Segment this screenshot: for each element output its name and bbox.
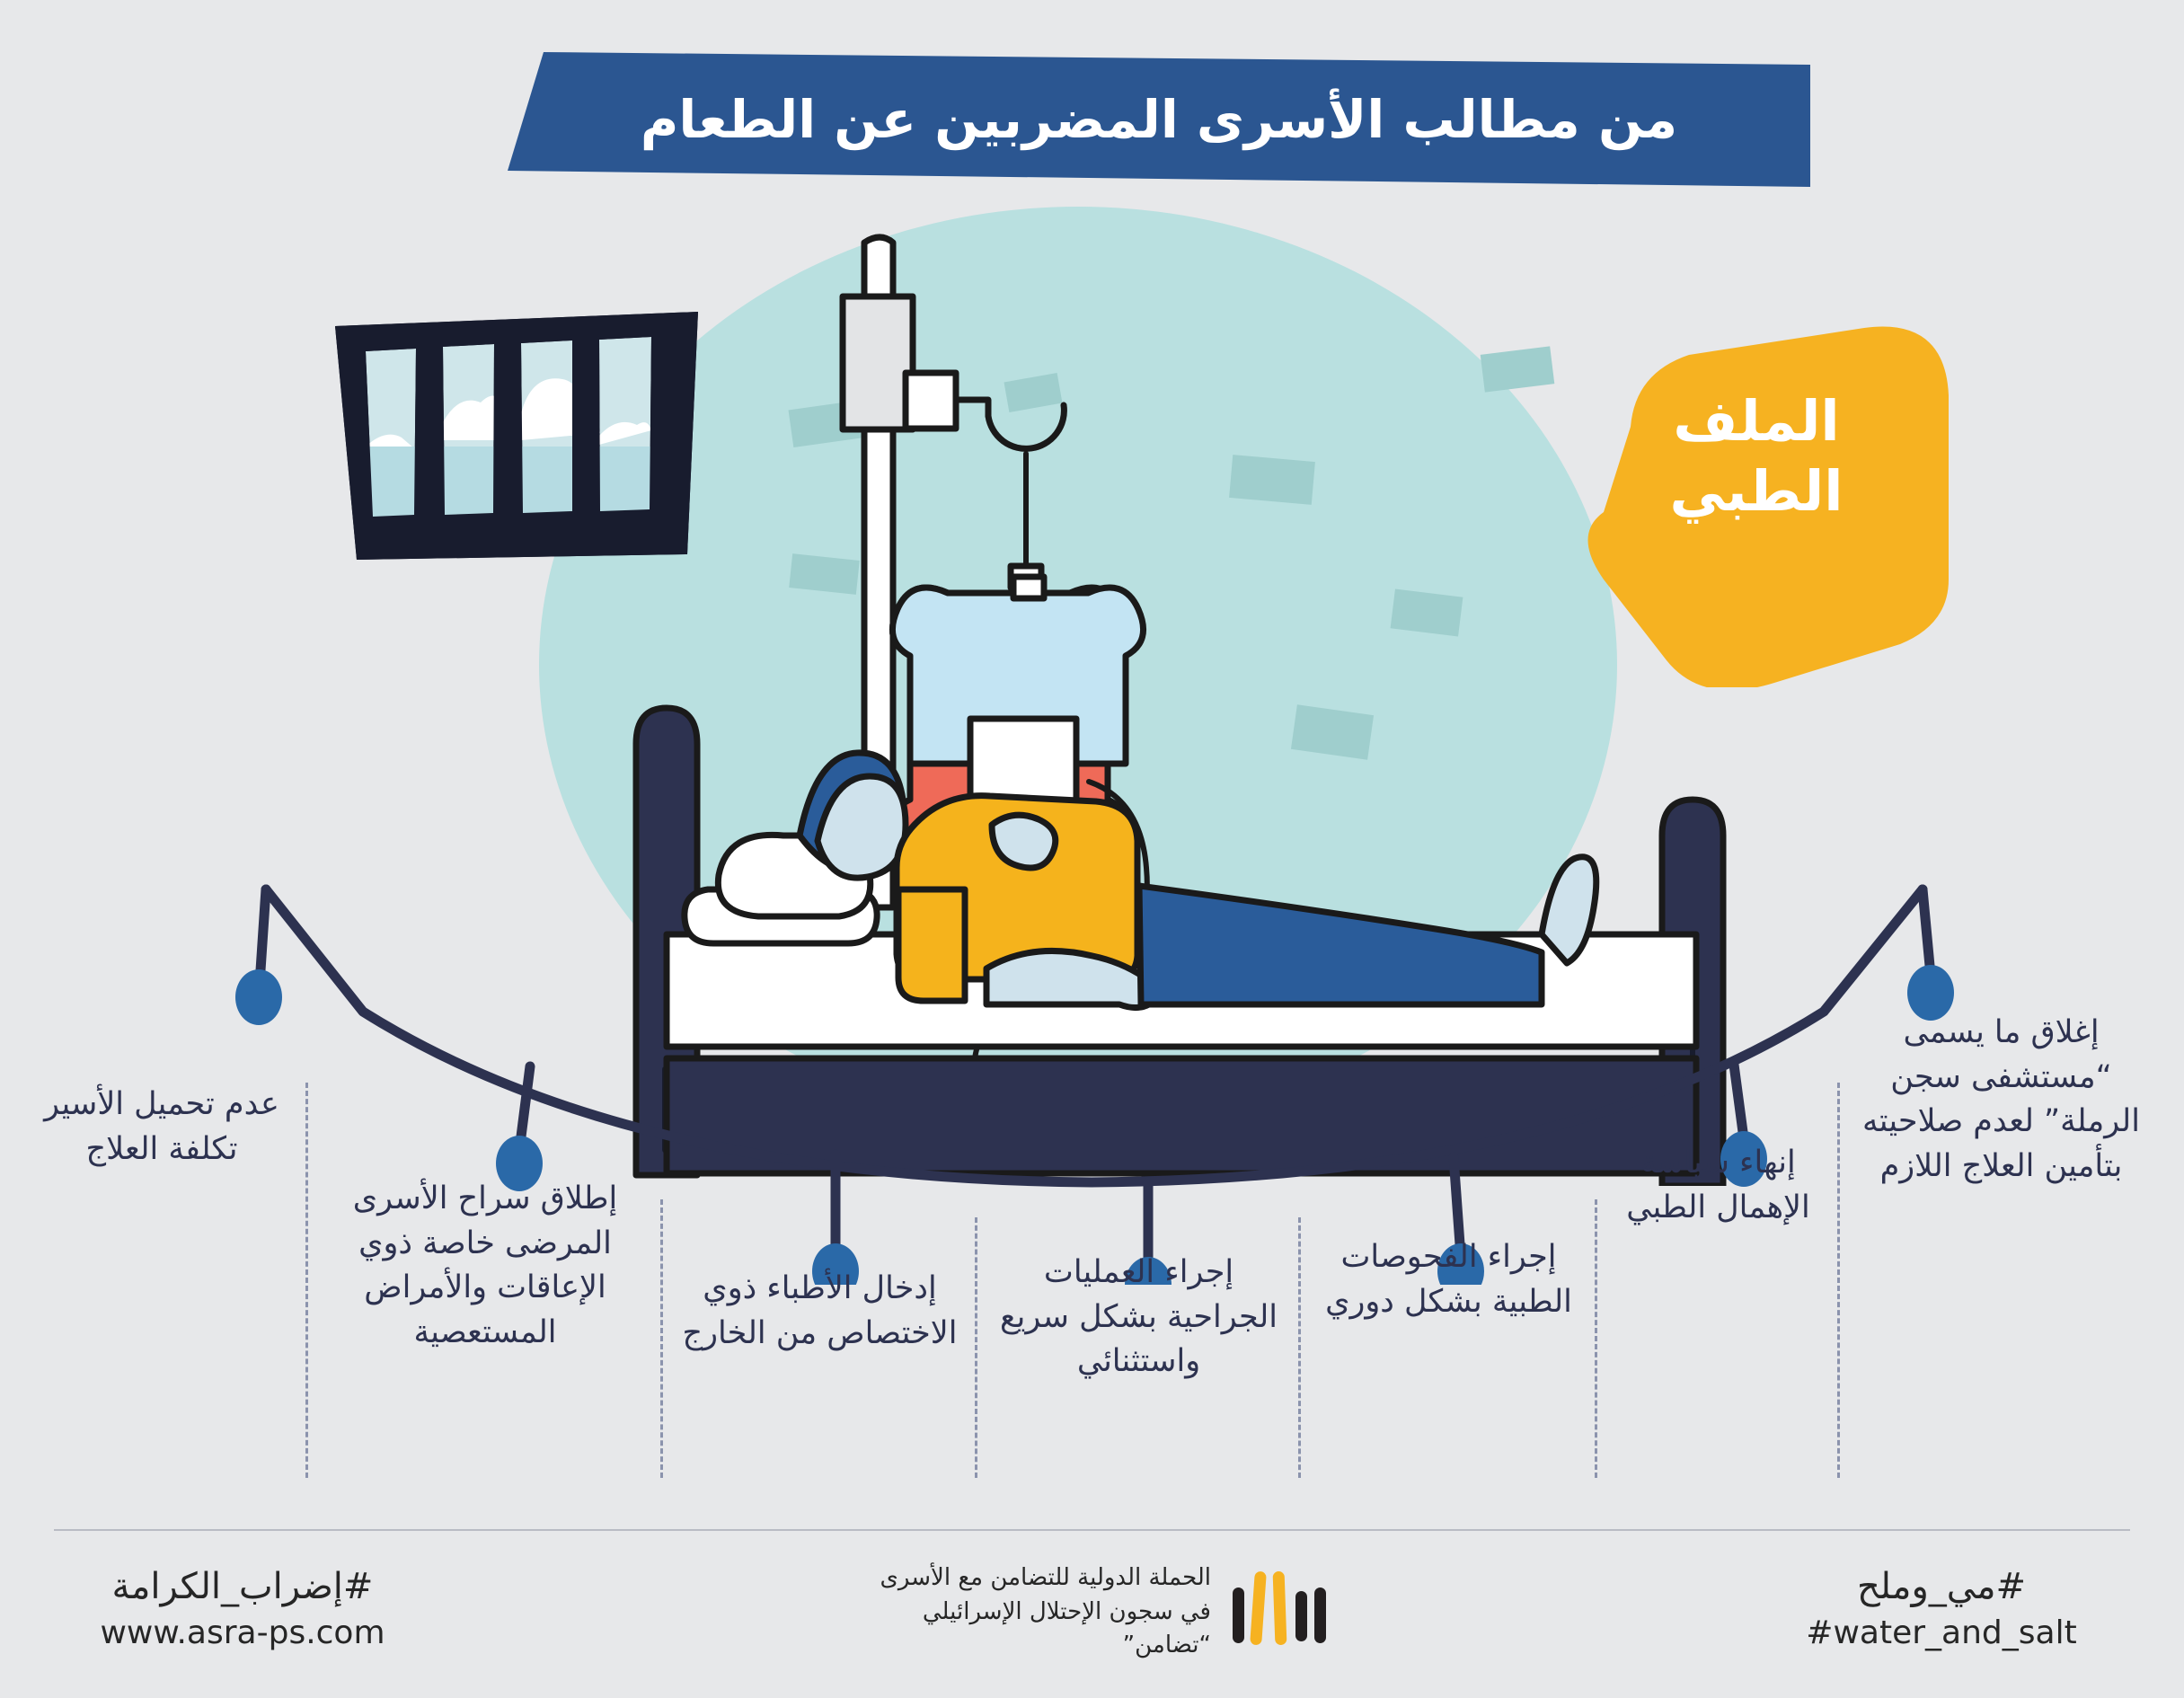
footer-divider: [54, 1529, 2130, 1531]
footer-website-link[interactable]: www.asra-ps.com: [54, 1613, 431, 1653]
footer-hashtag-dignity-strike: #إضراب_الكرامة: [54, 1565, 431, 1608]
demand-label-no-treatment-cost-on-prisoner: عدم تحميل الأسير تكلفة العلاج: [31, 1083, 292, 1172]
footer-hashtag-water-and-salt-en: #water_and_salt: [1753, 1613, 2130, 1653]
footer-hashtag-water-and-salt-ar: #مي_وملح: [1753, 1565, 2130, 1608]
demand-label-periodic-medical-examinations: إجراء الفحوصات الطبية بشكل دوري: [1316, 1235, 1581, 1324]
connector-dot: [235, 969, 282, 1025]
footer-left-block: #إضراب_الكرامة www.asra-ps.com: [54, 1565, 431, 1653]
organization-line-2: في سجون الإحتلال الإسرائيلي: [880, 1596, 1211, 1630]
footer-right-block: #مي_وملح #water_and_salt: [1753, 1565, 2130, 1653]
organization-line-3: “تضامن”: [880, 1629, 1211, 1663]
infographic-root: من مطالب الأسرى المضربين عن الطعام الملف…: [0, 0, 2184, 1698]
demand-label-release-sick-prisoners: إطلاق سراح الأسرى المرضى خاصة ذوي الإعاق…: [323, 1177, 647, 1356]
demand-label-fast-exceptional-surgeries: إجراء العمليات الجراحية بشكل سريع واستثن…: [993, 1251, 1285, 1384]
demand-label-end-medical-neglect-policy: إنهاء سياسة الإهمال الطبي: [1613, 1141, 1824, 1230]
demand-label-admit-external-specialist-doctors: إدخال الأطباء ذوي الاختصاص من الخارج: [678, 1267, 961, 1356]
medical-file-badge-text: الملف الطبي: [1608, 386, 1905, 526]
badge-line-2: الطبي: [1608, 456, 1905, 526]
footer-center-block: الحملة الدولية للتضامن مع الأسرى في سجون…: [862, 1561, 1330, 1663]
badge-line-1: الملف: [1608, 386, 1905, 456]
organization-name: الحملة الدولية للتضامن مع الأسرى في سجون…: [880, 1561, 1211, 1663]
demand-label-close-ramleh-prison-hospital: إغلاق ما يسمى “مستشفى سجن الرملة” لعدم ص…: [1851, 1011, 2152, 1189]
page-title: من مطالب الأسرى المضربين عن الطعام: [508, 52, 1810, 187]
organization-line-1: الحملة الدولية للتضامن مع الأسرى: [880, 1561, 1211, 1596]
prison-bars-logo-icon: [1231, 1568, 1330, 1658]
